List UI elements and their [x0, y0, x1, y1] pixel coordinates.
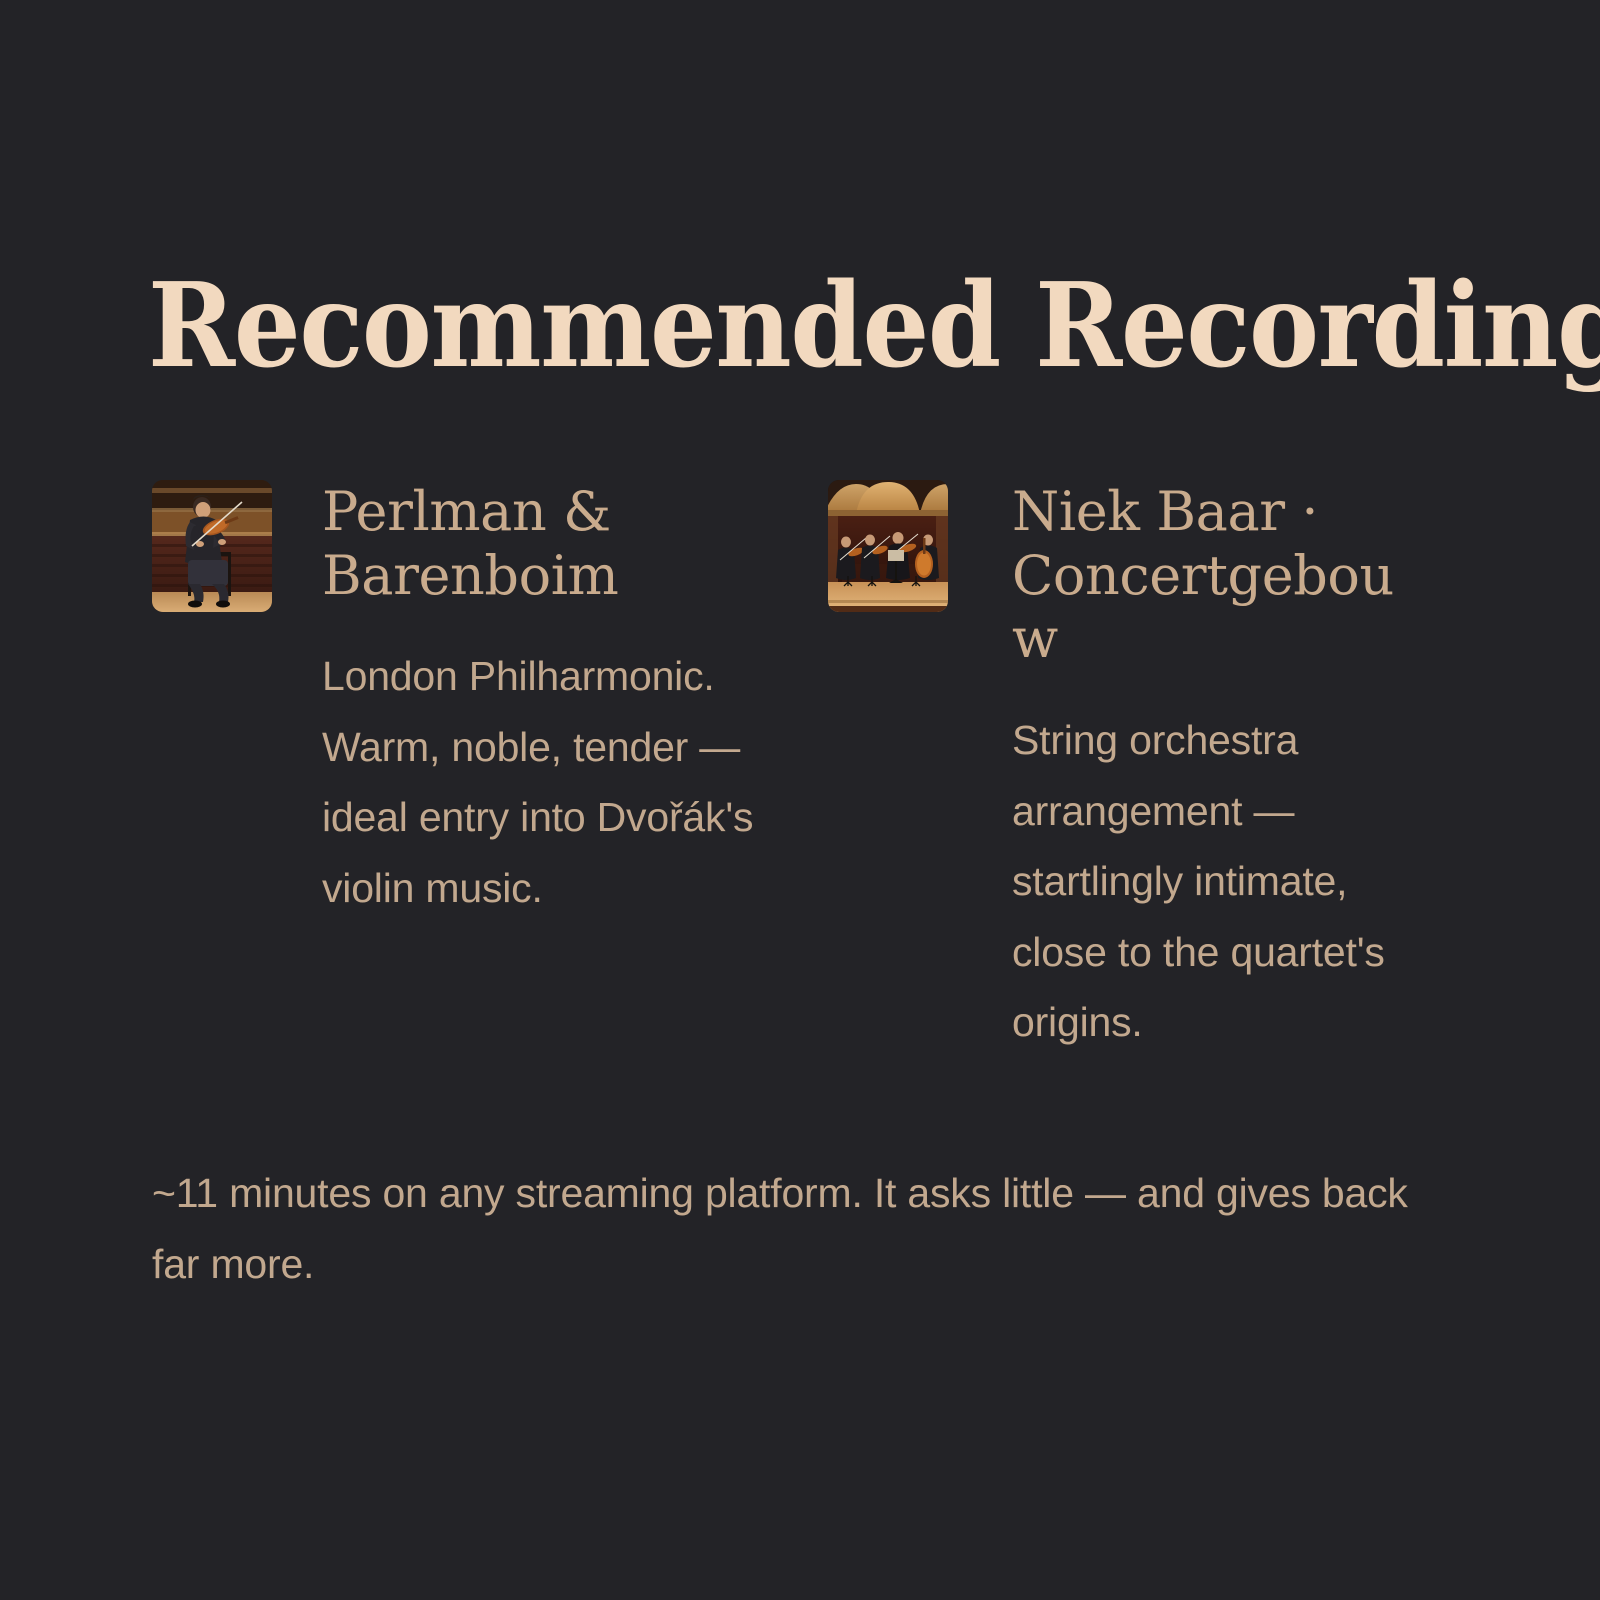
recording-card[interactable]: Perlman & Barenboim London Philharmonic.… [152, 480, 828, 1058]
footer-note: ~11 minutes on any streaming platform. I… [152, 1158, 1420, 1299]
recording-description: London Philharmonic. Warm, noble, tender… [322, 607, 762, 923]
recording-card-body: Perlman & Barenboim London Philharmonic.… [272, 480, 828, 924]
recording-card[interactable]: Niek Baar · Concertgebouw String orchest… [828, 480, 1420, 1058]
recordings-list: Perlman & Barenboim London Philharmonic.… [152, 480, 1420, 1058]
violinist-stage-image [152, 480, 272, 612]
string-quartet-stage-image [828, 480, 948, 612]
recording-thumbnail-violinist [152, 480, 272, 612]
recording-title: Perlman & Barenboim [322, 480, 682, 607]
recommended-recordings-slide: Recommended Recordings [0, 0, 1600, 1600]
recording-description: String orchestra arrangement — startling… [1012, 671, 1420, 1058]
recording-card-body: Niek Baar · Concertgebouw String orchest… [948, 480, 1420, 1058]
page-title: Recommended Recordings [148, 268, 1343, 384]
recording-thumbnail-quartet [828, 480, 948, 612]
recording-title: Niek Baar · Concertgebouw [1012, 480, 1420, 671]
